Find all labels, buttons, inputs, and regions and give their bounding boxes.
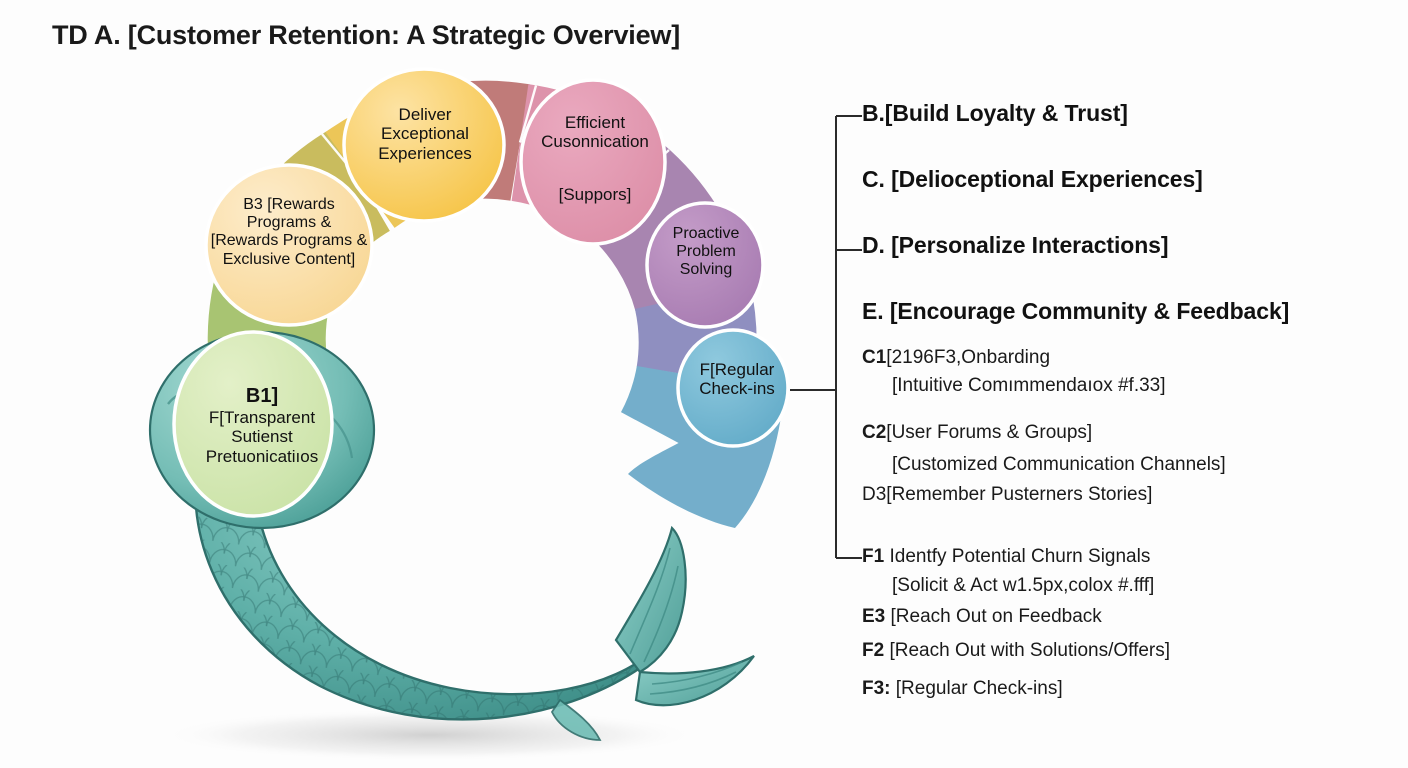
bubble-deliver[interactable] <box>344 69 504 221</box>
item-f1: F1 Identfy Potential Churn Signals <box>862 546 1150 568</box>
item-c2-text: [User Forums & Groups] <box>886 422 1092 443</box>
bubble-rewards[interactable] <box>206 165 372 325</box>
cycle-diagram <box>0 0 1408 768</box>
bubble-checkins[interactable] <box>678 330 788 446</box>
item-c1: C1[2196F3,Onbarding <box>862 347 1050 369</box>
item-d3-code: D3 <box>862 484 886 505</box>
heading-b: B.[Build Loyalty & Trust] <box>862 100 1128 127</box>
item-f2-code: F2 <box>862 640 884 661</box>
item-c1-sub: [Intuitive Comımmendaıox #f.33] <box>862 375 1166 397</box>
bubble-b1[interactable] <box>174 332 332 516</box>
item-d3-text: [Remember Pusterners Stories] <box>886 484 1152 505</box>
item-e3: E3 [Reach Out on Feedback <box>862 606 1102 628</box>
heading-d: D. [Personalize Interactions] <box>862 232 1168 259</box>
item-e3-text: [Reach Out on Feedback <box>891 606 1102 627</box>
item-f3-code: F3: <box>862 678 891 699</box>
item-e3-code: E3 <box>862 606 885 627</box>
item-c2-sub: [Customized Communication Channels] <box>862 454 1226 476</box>
item-f2-text: [Reach Out with Solutions/Offers] <box>889 640 1170 661</box>
heading-e: E. [Encourage Community & Feedback] <box>862 298 1289 325</box>
item-d3: D3[Remember Pusterners Stories] <box>862 484 1152 506</box>
item-f1-code: F1 <box>862 546 884 567</box>
item-c2: C2[User Forums & Groups] <box>862 422 1092 444</box>
bubble-efficient[interactable] <box>521 80 665 244</box>
item-f2: F2 [Reach Out with Solutions/Offers] <box>862 640 1170 662</box>
item-f3: F3: [Regular Check-ins] <box>862 678 1063 700</box>
diagram-canvas: TD A. [Customer Retention: A Strategic O… <box>0 0 1408 768</box>
item-c1-code: C1 <box>862 347 886 368</box>
item-f1-text: Identfy Potential Churn Signals <box>889 546 1150 567</box>
item-c2-code: C2 <box>862 422 886 443</box>
item-f3-text: [Regular Check-ins] <box>896 678 1063 699</box>
item-c1-text: [2196F3,Onbarding <box>886 347 1050 368</box>
heading-c: C. [Delioceptional Experiences] <box>862 166 1203 193</box>
item-f1-sub: [Solicit & Act w1.5px,colox #.fff] <box>862 575 1154 597</box>
bubble-proactive[interactable] <box>647 203 763 327</box>
bracket-connector <box>790 116 862 558</box>
